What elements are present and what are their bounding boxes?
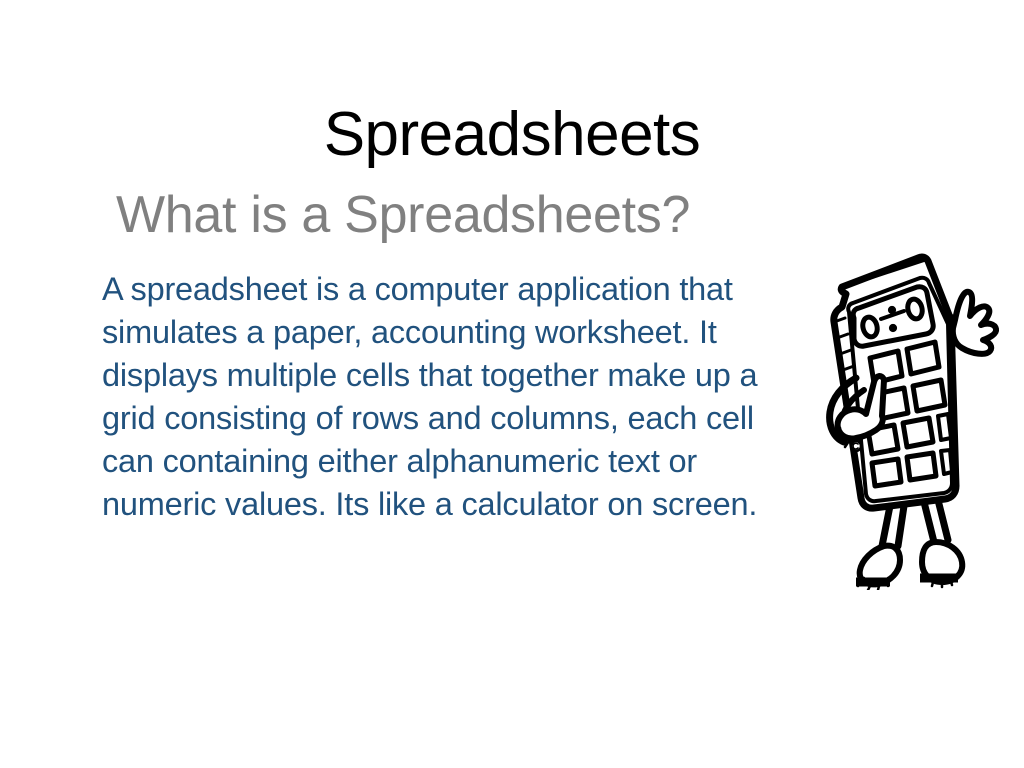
body-paragraph: A spreadsheet is a computer application …	[102, 268, 802, 526]
slide-subtitle: What is a Spreadsheets?	[116, 188, 916, 243]
left-eye-icon	[861, 316, 879, 339]
calculator-character-icon	[812, 250, 1004, 590]
page-title: Spreadsheets	[0, 104, 1024, 166]
calculator-character-illustration	[812, 250, 1004, 590]
slide-canvas: Spreadsheets What is a Spreadsheets? A s…	[0, 0, 1024, 768]
right-eye-icon	[906, 298, 924, 321]
